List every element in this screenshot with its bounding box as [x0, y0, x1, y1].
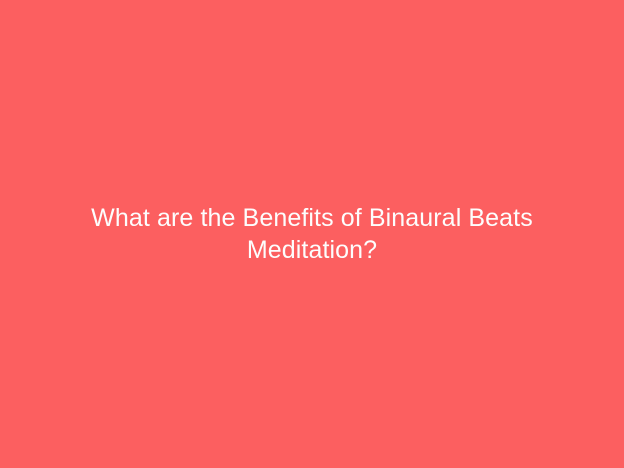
- heading-block: What are the Benefits of Binaural Beats …: [76, 202, 548, 266]
- title-card: What are the Benefits of Binaural Beats …: [0, 0, 624, 468]
- page-title: What are the Benefits of Binaural Beats …: [76, 202, 548, 266]
